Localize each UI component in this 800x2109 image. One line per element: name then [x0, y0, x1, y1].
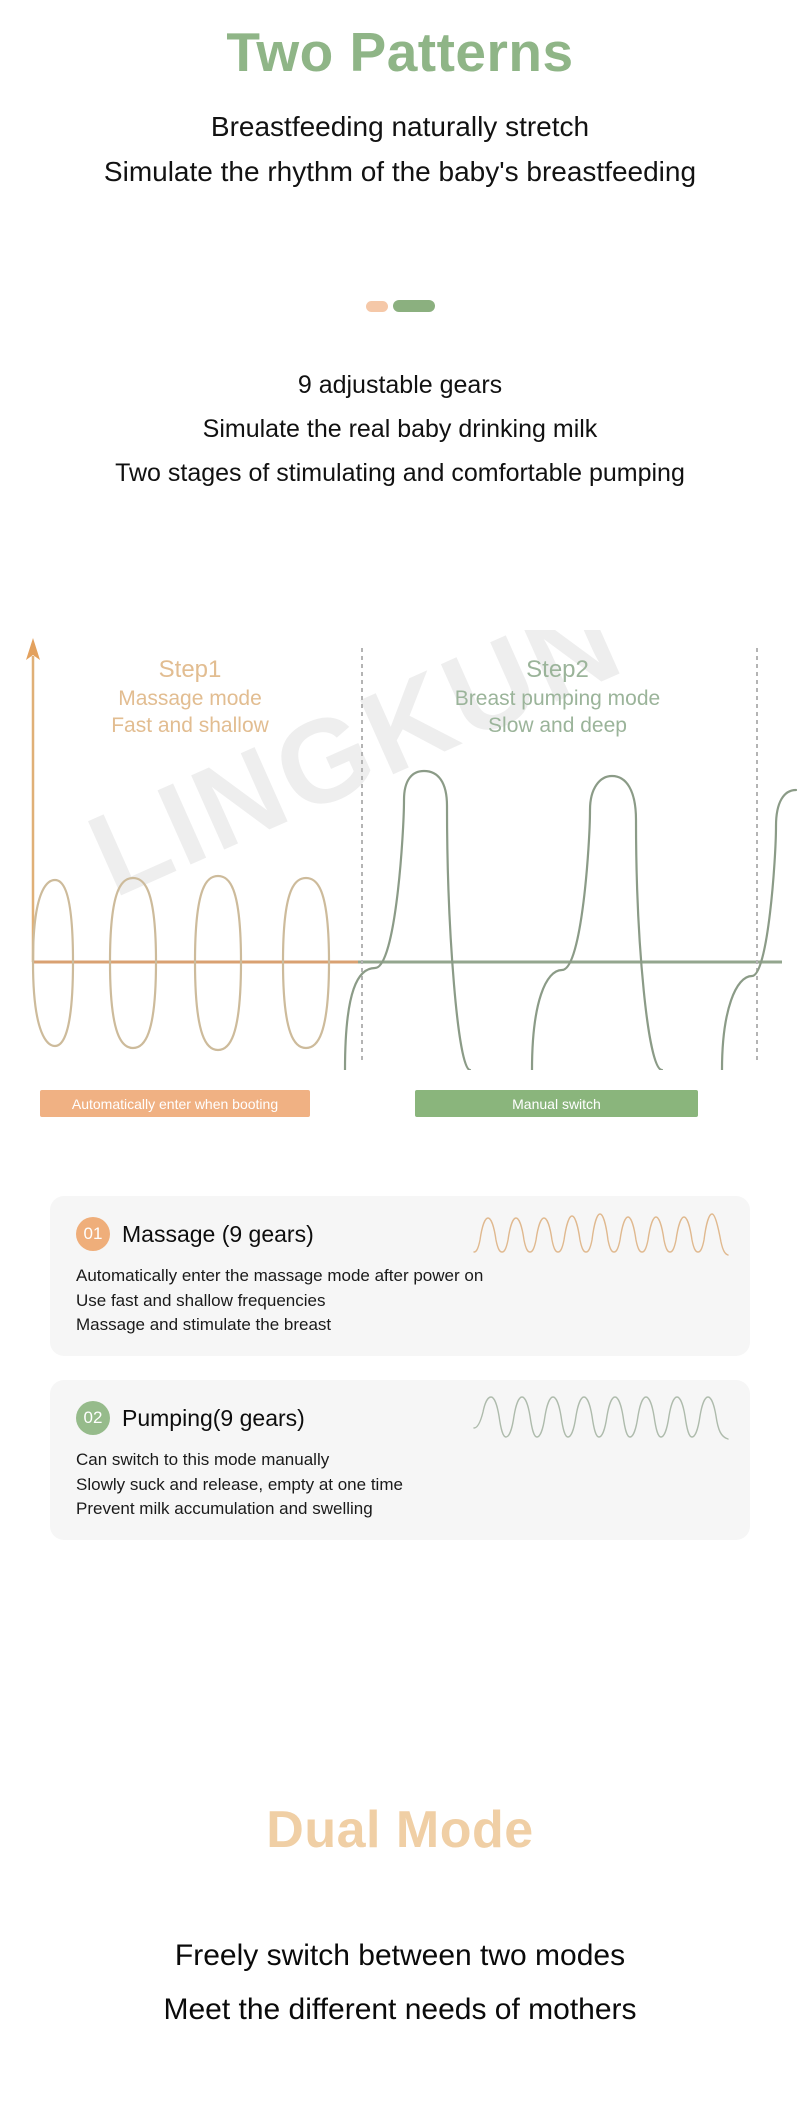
page-title: Two Patterns — [0, 22, 800, 83]
divider-pill-large-icon — [393, 300, 435, 312]
infographic-page: Two Patterns Breastfeeding naturally str… — [0, 0, 800, 2109]
divider-pill-small-icon — [366, 301, 388, 312]
mode-card-header: 02 Pumping(9 gears) — [76, 1398, 724, 1438]
feature-line-1: 9 adjustable gears — [0, 370, 800, 400]
feature-line-2: Simulate the real baby drinking milk — [0, 414, 800, 444]
footer-line-1: Freely switch between two modes — [0, 1938, 800, 1974]
card-body: Automatically enter the massage mode aft… — [76, 1264, 724, 1338]
footer-title: Dual Mode — [0, 1800, 800, 1860]
card-body-line: Automatically enter the massage mode aft… — [76, 1264, 724, 1289]
card-number-badge: 02 — [76, 1401, 110, 1435]
step2-mode: Breast pumping mode — [380, 686, 735, 713]
step2-title: Step2 — [380, 655, 735, 686]
auto-mode-bar: Automatically enter when booting — [40, 1090, 310, 1117]
pumping-waveform-icon — [472, 1394, 730, 1442]
step2-description: Slow and deep — [380, 713, 735, 740]
mode-card-massage: 01 Massage (9 gears) Automatically enter… — [50, 1196, 750, 1356]
manual-mode-bar: Manual switch — [415, 1090, 698, 1117]
card-body-line: Can switch to this mode manually — [76, 1448, 724, 1473]
card-title: Massage (9 gears) — [122, 1221, 314, 1248]
card-body-line: Prevent milk accumulation and swelling — [76, 1497, 724, 1522]
mode-card-pumping: 02 Pumping(9 gears) Can switch to this m… — [50, 1380, 750, 1540]
section-divider — [0, 300, 800, 312]
massage-waveform-icon — [472, 1210, 730, 1258]
card-body-line: Slowly suck and release, empty at one ti… — [76, 1473, 724, 1498]
footer-line-2: Meet the different needs of mothers — [0, 1992, 800, 2028]
card-title: Pumping(9 gears) — [122, 1405, 305, 1432]
step1-mode: Massage mode — [40, 686, 340, 713]
step1-label-group: Step1 Massage mode Fast and shallow — [40, 655, 340, 739]
step1-title: Step1 — [40, 655, 340, 686]
step2-waveform — [345, 771, 796, 1070]
card-body-line: Use fast and shallow frequencies — [76, 1289, 724, 1314]
feature-line-3: Two stages of stimulating and comfortabl… — [0, 458, 800, 488]
hero-subtitle-1: Breastfeeding naturally stretch — [0, 110, 800, 144]
y-axis-icon — [26, 638, 40, 962]
card-body: Can switch to this mode manually Slowly … — [76, 1448, 724, 1522]
mode-card-header: 01 Massage (9 gears) — [76, 1214, 724, 1254]
step2-label-group: Step2 Breast pumping mode Slow and deep — [380, 655, 735, 739]
card-number-badge: 01 — [76, 1217, 110, 1251]
card-body-line: Massage and stimulate the breast — [76, 1313, 724, 1338]
hero-subtitle-2: Simulate the rhythm of the baby's breast… — [0, 155, 800, 189]
step1-description: Fast and shallow — [40, 713, 340, 740]
